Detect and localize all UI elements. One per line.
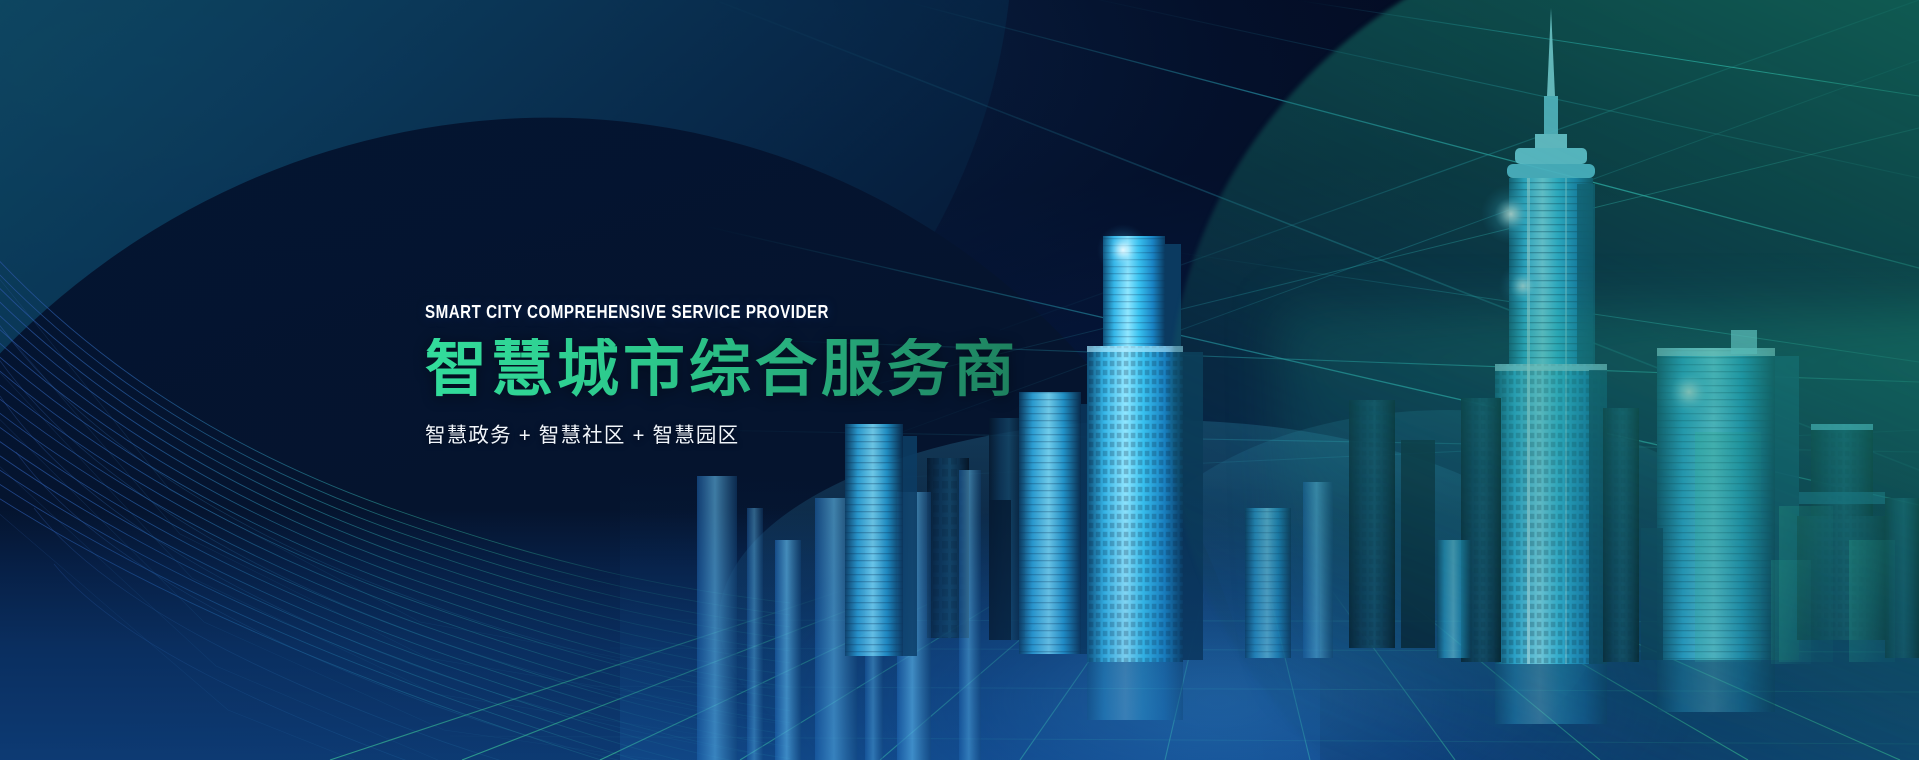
eyebrow-english-tagline: SMART CITY COMPREHENSIVE SERVICE PROVIDE… <box>425 303 1048 322</box>
right-green-glow <box>1279 310 1919 760</box>
page-title: 智慧城市综合服务商 <box>425 338 1185 402</box>
headline-text-block: SMART CITY COMPREHENSIVE SERVICE PROVIDE… <box>425 303 1185 448</box>
subtitle-services: 智慧政务 + 智慧社区 + 智慧园区 <box>425 418 1185 448</box>
smart-city-banner: SMART CITY COMPREHENSIVE SERVICE PROVIDE… <box>0 0 1919 760</box>
